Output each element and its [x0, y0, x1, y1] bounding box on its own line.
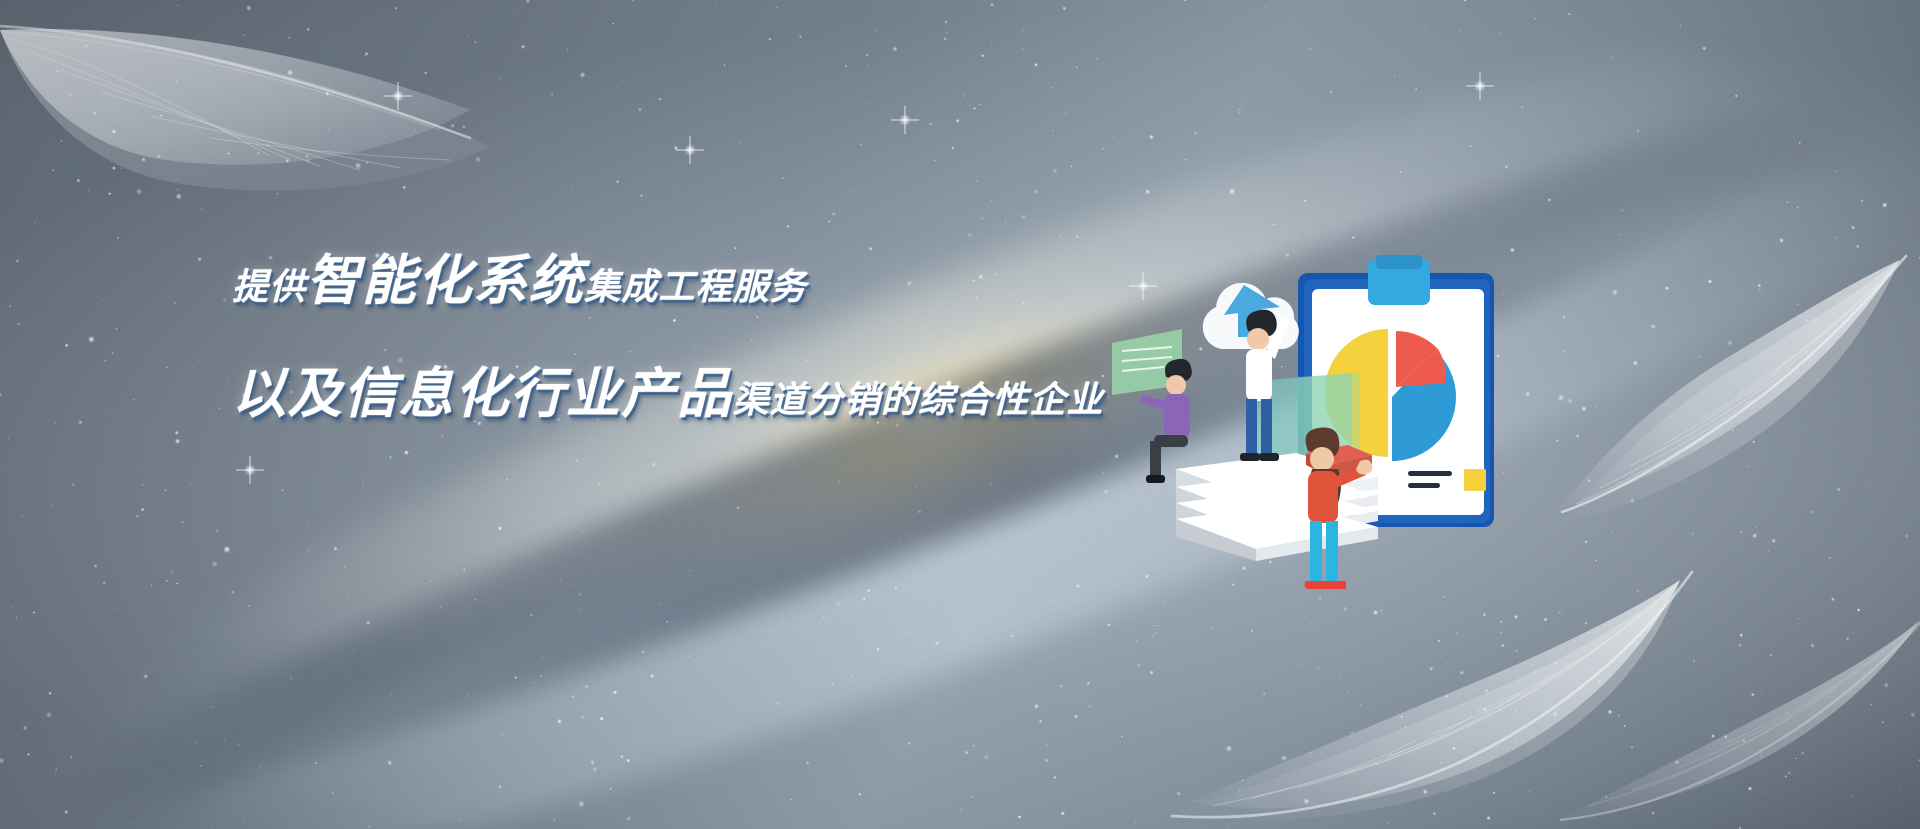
headline-line2-suffix: 渠道分销的综合性企业 — [733, 371, 1104, 423]
business-analytics-illustration — [1120, 255, 1540, 605]
headline-line1-prefix: 提供 — [232, 258, 306, 310]
headline-line1-suffix: 集成工程服务 — [584, 258, 806, 310]
hero-banner: 提供智能化系统集成工程服务 以及信息化行业产品渠道分销的综合性企业 — [0, 0, 1920, 829]
headline-line1-accent: 智能化系统 — [306, 236, 584, 315]
headline-line2-accent: 以及信息化行业产品 — [232, 349, 733, 428]
